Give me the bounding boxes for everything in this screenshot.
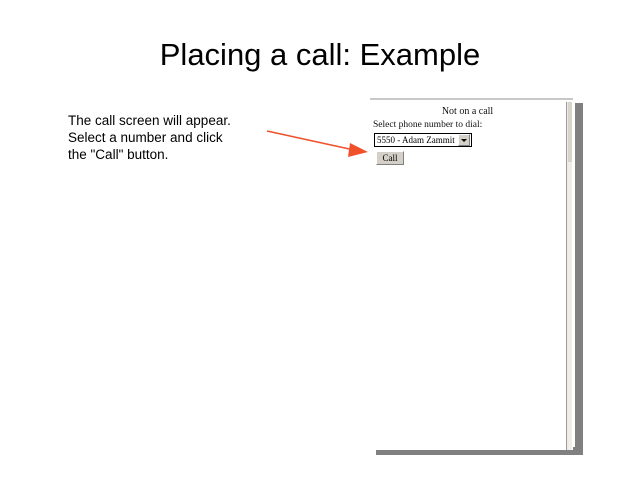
embedded-app-screenshot: Not on a call Select phone number to dia… [370,98,573,450]
vertical-scrollbar-thumb[interactable] [568,102,572,162]
call-button[interactable]: Call [376,151,404,165]
call-screen-window: Not on a call Select phone number to dia… [370,98,573,450]
page-title: Placing a call: Example [0,38,640,72]
body-text-block: The call screen will appear. Select a nu… [68,112,278,163]
presentation-slide: Placing a call: Example The call screen … [0,0,640,480]
phone-number-dropdown-value: 5550 - Adam Zammit [375,135,458,145]
body-text-line: The call screen will appear. [68,112,278,129]
body-text-line: the "Call" button. [68,146,278,163]
vertical-scrollbar[interactable] [566,102,572,450]
phone-number-dropdown[interactable]: 5550 - Adam Zammit [374,133,472,147]
call-screen-client-area: Not on a call Select phone number to dia… [370,102,565,450]
screenshot-shadow-right [575,103,583,455]
chevron-down-icon[interactable] [458,134,470,146]
phone-number-label: Select phone number to dial: [373,120,482,130]
call-status-text: Not on a call [370,106,565,117]
body-text-line: Select a number and click [68,129,278,146]
